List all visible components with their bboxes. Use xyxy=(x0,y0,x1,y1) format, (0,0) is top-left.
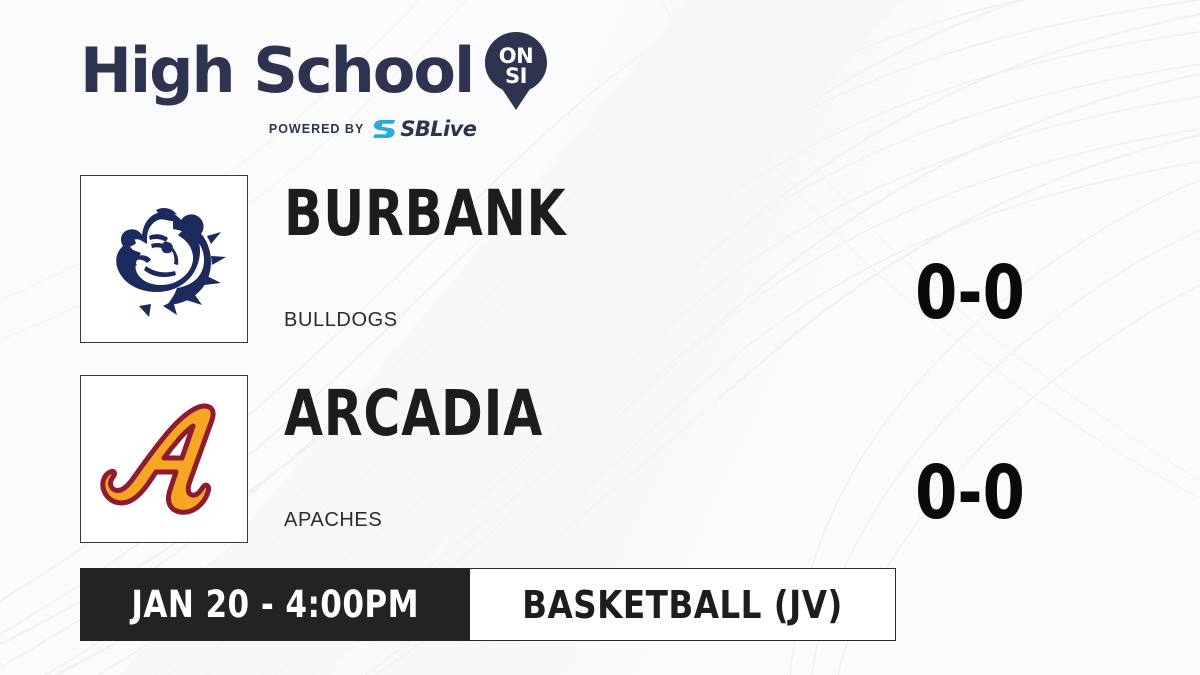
team-logo-box xyxy=(80,375,248,543)
script-a-icon xyxy=(100,400,228,518)
sblive-wordmark: SBLive xyxy=(400,117,476,141)
team-score: 0-0 xyxy=(904,456,1035,530)
matchup-card: High School ON SI POWERED BY SBLive xyxy=(0,0,1200,675)
team-row: BURBANK BULLDOGS xyxy=(80,175,637,343)
game-sport: BASKETBALL (JV) xyxy=(522,583,843,627)
team-text-block: ARCADIA APACHES xyxy=(284,375,608,532)
brand-title: High School xyxy=(80,42,473,101)
game-info-bar: JAN 20 - 4:00PM BASKETBALL (JV) xyxy=(80,568,896,641)
team-nickname: BULLDOGS xyxy=(284,309,637,332)
powered-by-row: POWERED BY SBLive xyxy=(80,117,547,141)
brand-title-row: High School ON SI xyxy=(80,32,547,110)
sblive-s-mark-icon xyxy=(373,118,397,140)
sblive-logo: SBLive xyxy=(373,117,476,141)
game-sport-badge: BASKETBALL (JV) xyxy=(470,568,896,641)
svg-text:SI: SI xyxy=(505,64,527,88)
brand-lockup: High School ON SI POWERED BY SBLive xyxy=(80,32,547,141)
bulldog-mascot-icon xyxy=(101,196,227,322)
team-text-block: BURBANK BULLDOGS xyxy=(284,175,637,332)
game-datetime: JAN 20 - 4:00PM xyxy=(131,583,419,626)
team-logo-box xyxy=(80,175,248,343)
game-datetime-badge: JAN 20 - 4:00PM xyxy=(80,568,470,641)
on-si-pin-icon: ON SI xyxy=(485,32,547,110)
team-nickname: APACHES xyxy=(284,509,608,532)
team-score: 0-0 xyxy=(904,256,1035,330)
team-row: ARCADIA APACHES xyxy=(80,375,608,543)
powered-by-label: POWERED BY xyxy=(269,122,364,136)
team-name: ARCADIA xyxy=(284,385,543,443)
team-name: BURBANK xyxy=(284,185,566,243)
